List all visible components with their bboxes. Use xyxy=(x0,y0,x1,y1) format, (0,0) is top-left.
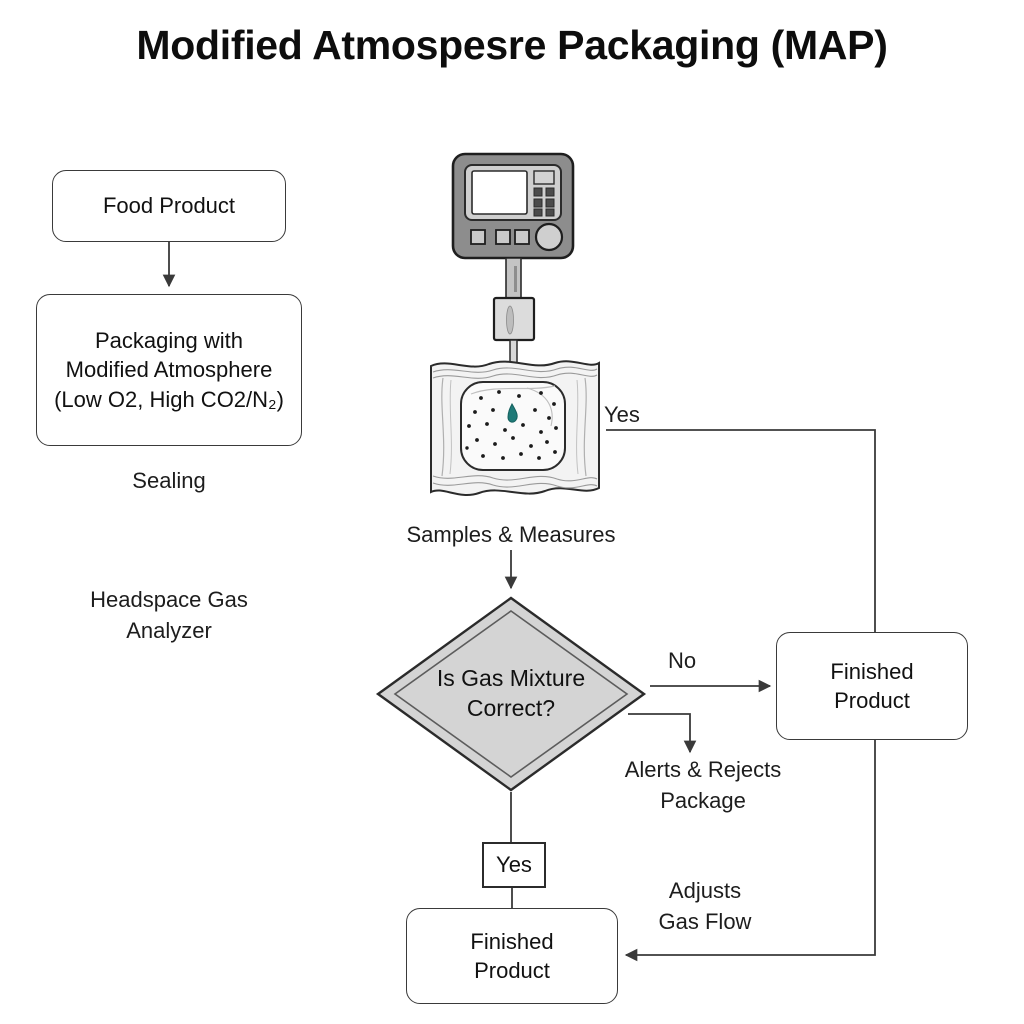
node-packaging-modified-atmosphere[interactable]: Packaging with Modified Atmosphere (Low … xyxy=(36,294,302,446)
label-sealing: Sealing xyxy=(36,466,302,497)
node-finished-product-right[interactable]: Finished Product xyxy=(776,632,968,740)
node-yes-box[interactable]: Yes xyxy=(482,842,546,888)
sealed-food-package-icon xyxy=(423,352,605,502)
diagram-canvas: Modified Atmospesre Packaging (MAP) xyxy=(0,0,1024,1024)
edge-label-no: No xyxy=(668,646,734,677)
label-alerts-and-rejects-package: Alerts & Rejects Package xyxy=(580,755,826,817)
edge-label-yes: Yes xyxy=(604,400,674,431)
node-food-product[interactable]: Food Product xyxy=(52,170,286,242)
node-food-product-label: Food Product xyxy=(103,191,235,220)
node-yes-box-label: Yes xyxy=(496,850,532,879)
label-samples-and-measures: Samples & Measures xyxy=(366,520,656,551)
label-headspace-gas-analyzer: Headspace Gas Analyzer xyxy=(36,585,302,647)
node-finished-product-bottom[interactable]: Finished Product xyxy=(406,908,618,1004)
node-packaging-label: Packaging with Modified Atmosphere (Low … xyxy=(54,326,284,413)
node-finished-product-right-label: Finished Product xyxy=(830,657,913,715)
gas-analyzer-device-icon xyxy=(449,150,577,262)
node-finished-product-bottom-label: Finished Product xyxy=(470,927,553,985)
label-adjusts-gas-flow: Adjusts Gas Flow xyxy=(610,876,800,938)
